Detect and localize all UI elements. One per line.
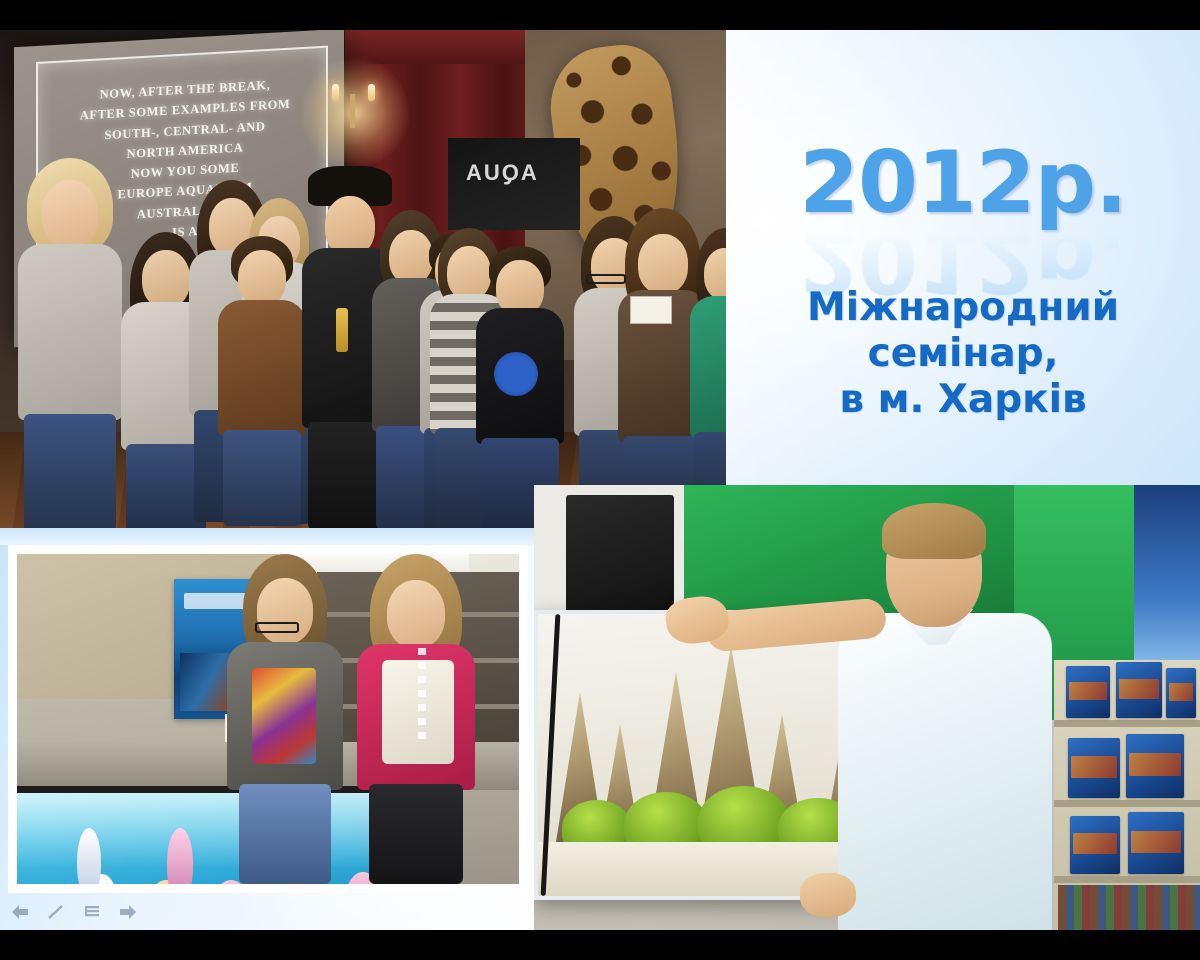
aqua-banner-text: AQUA [464,160,537,186]
colorful-tshirt-print [252,668,316,764]
year-title: 2012р. [726,140,1200,226]
pen-icon[interactable] [46,903,66,921]
wall-sconce-lamp [316,82,390,128]
shop-monitor [566,495,674,615]
shirt-logo-badge [494,352,538,396]
girl-eyeglasses [255,622,299,633]
slideshow-navigation-toolbar[interactable] [10,903,138,921]
menu-icon[interactable] [82,903,102,921]
lower-hand [800,873,856,917]
subtitle-line-2: семінар, [726,331,1200,377]
person-woman-blonde [14,158,126,528]
year-title-block: 2012р. 2012р. [726,140,1200,304]
boy-aquascape-photo [534,485,1200,930]
subtitle-line-3: в м. Харків [726,377,1200,423]
yellow-tie [336,308,348,352]
polo-shirt [838,613,1052,930]
arrow-left-icon[interactable] [10,903,30,921]
eyeglasses [586,274,626,284]
arrow-right-icon[interactable] [118,903,138,921]
presentation-slide: NOW, AFTER THE BREAK, AFTER SOME EXAMPLE… [0,0,1200,960]
aquascape-tank [534,610,866,900]
subtitle-line-1: Міжнародний [726,285,1200,331]
bottom-black-bar [0,930,1200,960]
name-badge [630,296,672,324]
seminar-group-photo: NOW, AFTER THE BREAK, AFTER SOME EXAMPLE… [0,30,726,528]
person-girl-green-jacket [690,228,726,528]
aqua-banner: AQUA [448,138,580,230]
hair [882,503,986,559]
subtitle-block: Міжнародний семінар, в м. Харків [726,285,1200,423]
person-boy-brown-jacket [216,236,308,528]
jacket-stripes [418,648,426,740]
young-man-presenter [834,485,1200,930]
